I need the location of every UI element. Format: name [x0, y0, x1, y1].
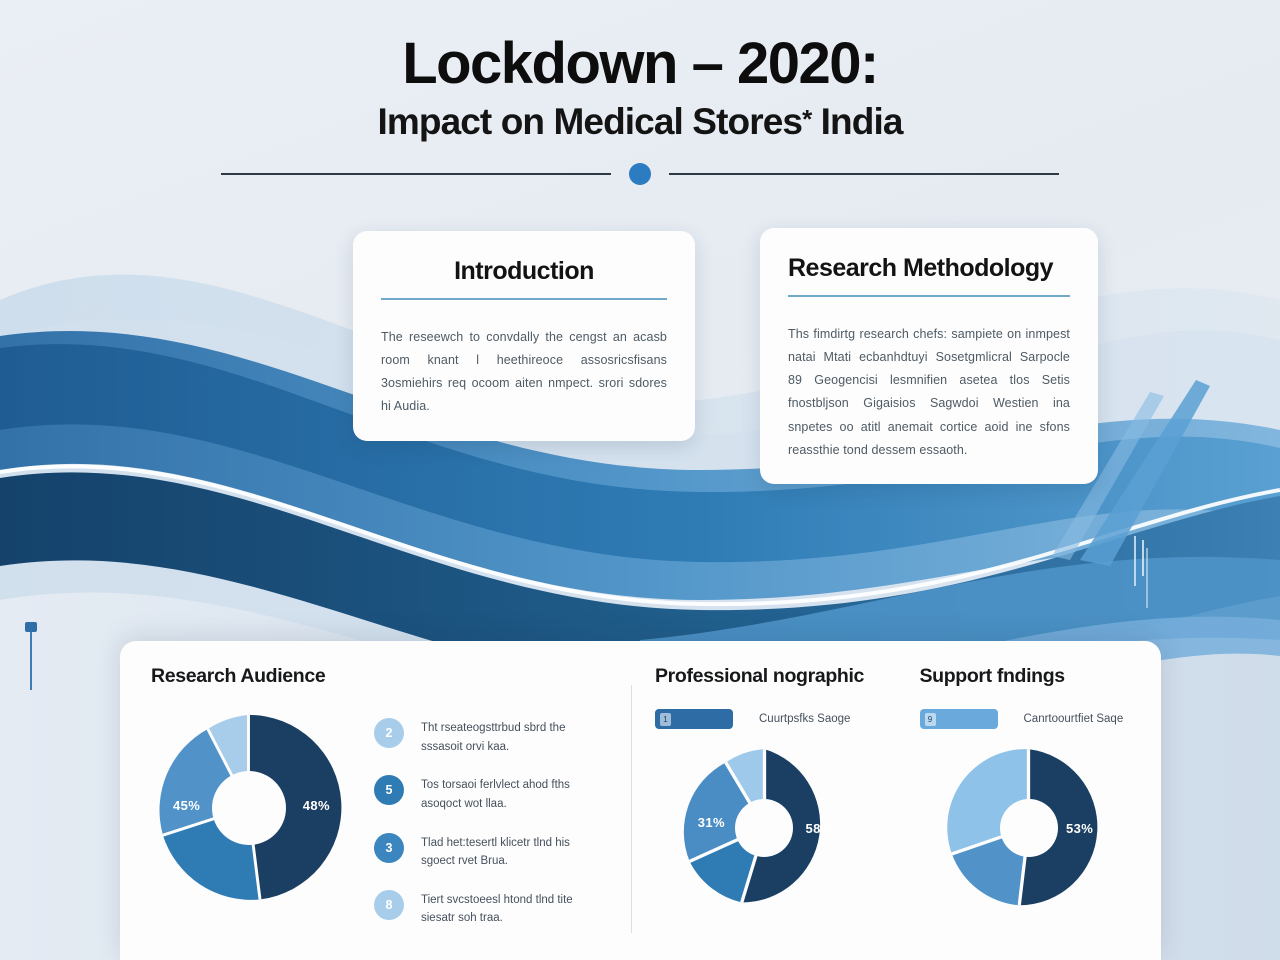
- divider-dot-icon: [629, 163, 651, 185]
- card-research-methodology-title: Research Methodology: [788, 254, 1070, 283]
- legend-text-4: Tiert svcstoeesl htond tlnd tite siesatr…: [421, 890, 581, 928]
- pill-glyph-icon: 9: [925, 713, 936, 726]
- support-findings-title: Support fndings: [907, 665, 1152, 688]
- legend-text-2: Tos torsaoi ferlvlect ahod fths asoqoct …: [421, 775, 581, 813]
- legend-item[interactable]: 5 Tos torsaoi ferlvlect ahod fths asoqoc…: [374, 775, 581, 813]
- support-findings-section: Support fndings 9 Canrtoourtfiet Saqe: [897, 647, 1162, 960]
- title-divider: [0, 163, 1280, 185]
- legend-badge-2: 5: [374, 775, 404, 805]
- research-audience-title: Research Audience: [151, 665, 632, 688]
- stray-marker-artefact: [20, 622, 42, 690]
- card-introduction-title: Introduction: [381, 257, 667, 286]
- legend-text-3: Tlad het:tesertl klicetr tlnd his sgoect…: [421, 833, 581, 871]
- pill-glyph-icon: 1: [660, 713, 671, 726]
- professional-donut-hole: [735, 799, 793, 857]
- page-header: Lockdown – 2020: Impact on Medical Store…: [0, 34, 1280, 185]
- legend-text-1: Tht rseateogsttrbud sbrd the sssasoit or…: [421, 718, 581, 756]
- legend-badge-1: 2: [374, 718, 404, 748]
- legend-badge-3: 3: [374, 833, 404, 863]
- charts-panel: Research Audience: [120, 641, 1161, 960]
- professional-slice-label-left: 31%: [698, 815, 725, 830]
- research-audience-legend: 2 Tht rseateogsttrbud sbrd the sssasoit …: [374, 710, 581, 947]
- card-introduction-underline: [381, 298, 667, 300]
- divider-line-right: [669, 173, 1059, 175]
- legend-badge-4: 8: [374, 890, 404, 920]
- legend-item[interactable]: 3 Tlad het:tesertl klicetr tlnd his sgoe…: [374, 833, 581, 871]
- audience-slice-label-left: 45%: [173, 798, 200, 813]
- professional-demographic-section: Professional nographic 1 Cuurtpsfks Saog…: [632, 647, 897, 960]
- legend-pill-label-support: Canrtoourtfiet Saqe: [1024, 713, 1124, 725]
- asterisk-icon: *: [802, 104, 811, 134]
- card-research-methodology-body: Ths fimdirtg research chefs: sampiete on…: [788, 323, 1070, 462]
- subtitle-country: India: [821, 101, 903, 142]
- page-subtitle: Impact on Medical Stores* India: [0, 102, 1280, 143]
- research-audience-donut-chart: 48% 45%: [151, 710, 346, 905]
- card-introduction-body: The reseewch to convdally the cengst an …: [381, 326, 667, 419]
- subtitle-text: Impact on Medical Stores: [377, 101, 802, 142]
- support-findings-donut-chart: 53%: [946, 745, 1111, 910]
- legend-pill-professional[interactable]: 1: [655, 709, 733, 729]
- support-donut-hole: [1000, 799, 1058, 857]
- legend-item[interactable]: 8 Tiert svcstoeesl htond tlnd tite siesa…: [374, 890, 581, 928]
- panel-vertical-divider: [631, 685, 632, 933]
- research-audience-section: Research Audience: [120, 641, 632, 960]
- professional-demographic-donut-chart: 58% 31%: [682, 745, 847, 910]
- divider-line-left: [221, 173, 611, 175]
- legend-pill-support[interactable]: 9: [920, 709, 998, 729]
- support-findings-legend[interactable]: 9 Canrtoourtfiet Saqe: [907, 709, 1152, 729]
- audience-donut-hole: [212, 771, 286, 845]
- panel-right-columns: Professional nographic 1 Cuurtpsfks Saog…: [632, 641, 1161, 960]
- card-research-methodology: Research Methodology Ths fimdirtg resear…: [760, 228, 1098, 484]
- research-audience-content: 48% 45% 2 Tht rseateogsttrbud sbrd the s…: [151, 710, 632, 947]
- card-research-methodology-underline: [788, 295, 1070, 297]
- support-slice-label-right: 53%: [1066, 821, 1093, 836]
- professional-demographic-title: Professional nographic: [642, 665, 887, 688]
- page-title: Lockdown – 2020:: [0, 34, 1280, 94]
- infographic-canvas: Lockdown – 2020: Impact on Medical Store…: [0, 0, 1280, 960]
- audience-slice-label-right: 48%: [303, 798, 330, 813]
- professional-slice-label-right: 58%: [806, 821, 833, 836]
- legend-pill-label-professional: Cuurtpsfks Saoge: [759, 713, 850, 725]
- card-introduction: Introduction The reseewch to convdally t…: [353, 231, 695, 441]
- professional-demographic-legend[interactable]: 1 Cuurtpsfks Saoge: [642, 709, 887, 729]
- legend-item[interactable]: 2 Tht rseateogsttrbud sbrd the sssasoit …: [374, 718, 581, 756]
